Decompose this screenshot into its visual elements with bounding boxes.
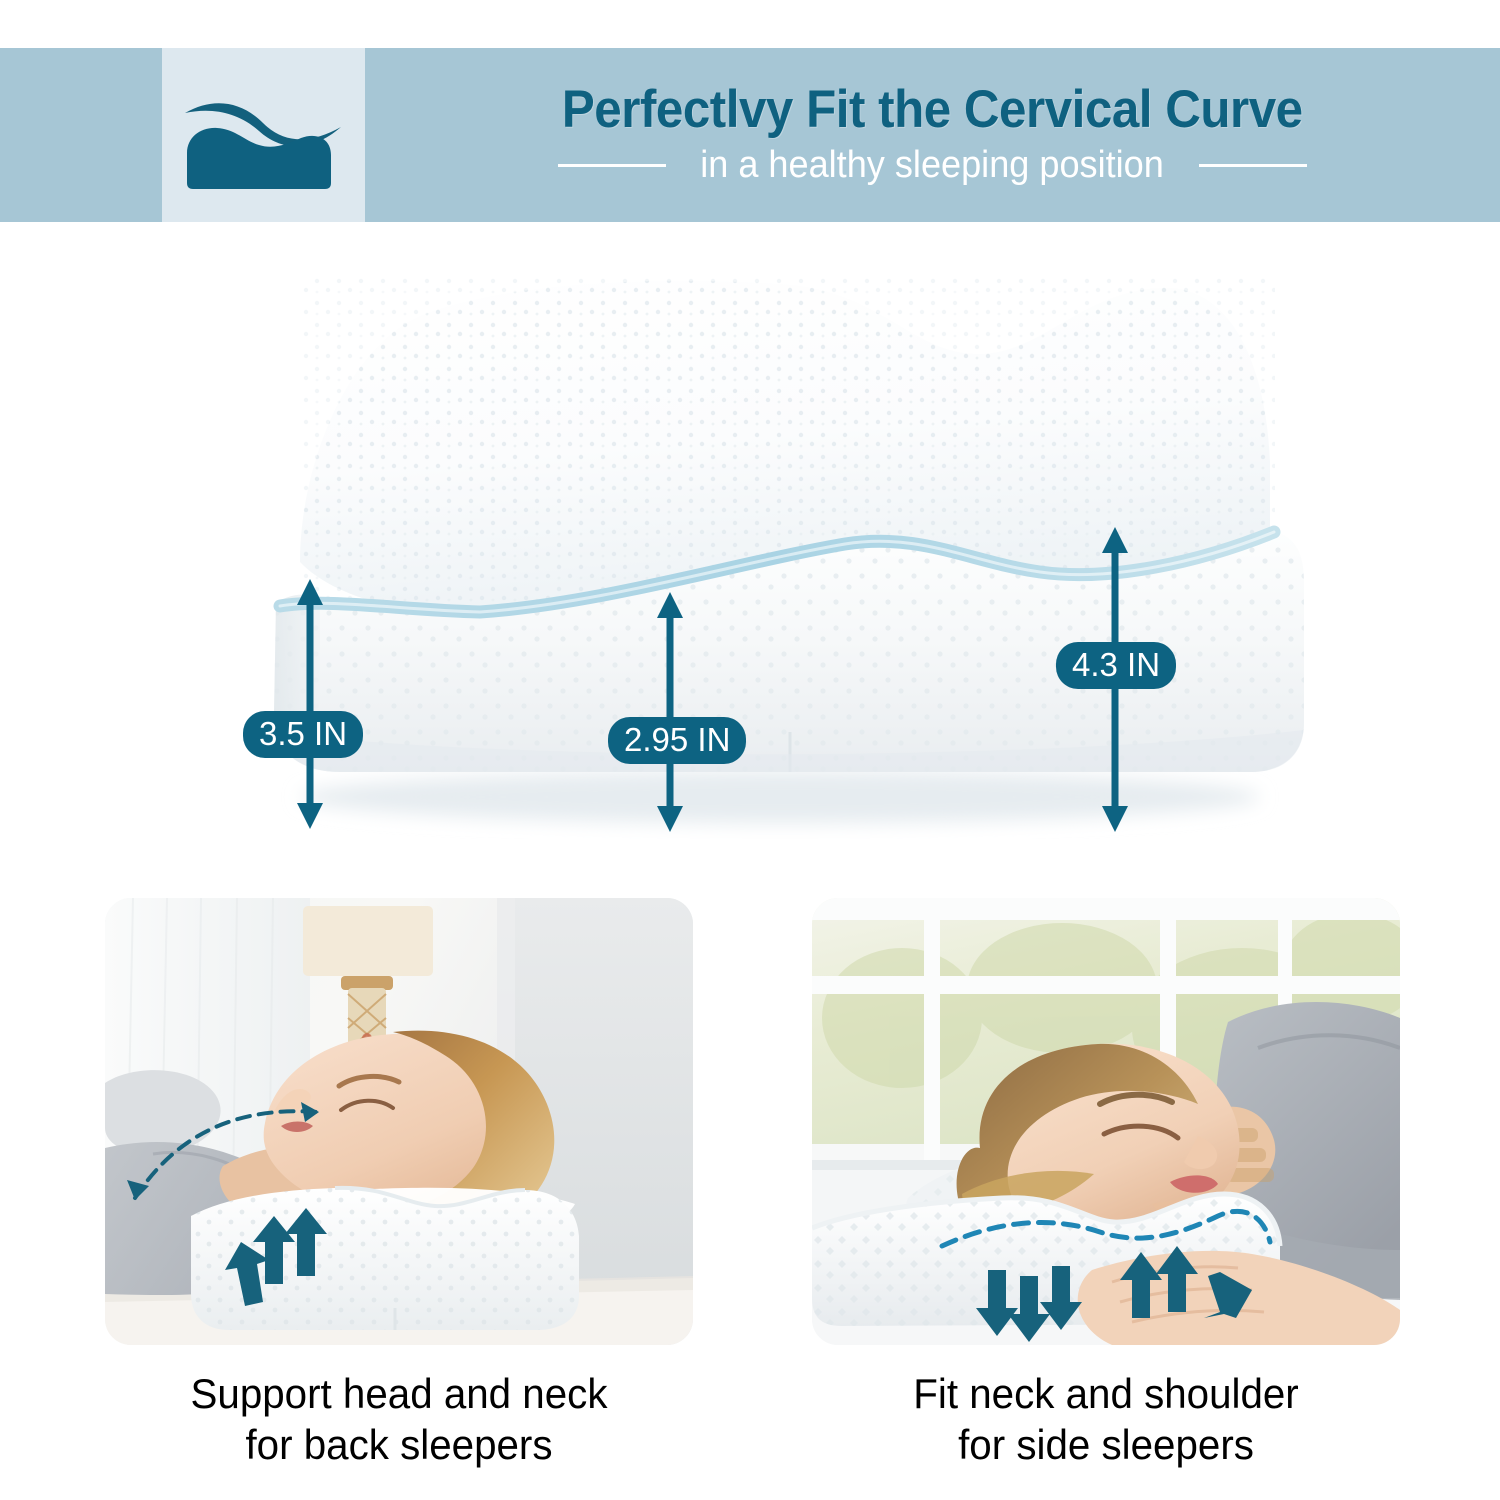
dimension-left: 3.5 IN [285,579,405,829]
header-banner: Perfectlvy Fit the Cervical Curve in a h… [0,48,1500,222]
page-title: Perfectlvy Fit the Cervical Curve [562,83,1303,137]
header-text-block: Perfectlvy Fit the Cervical Curve in a h… [365,48,1500,222]
caption-line-2: for side sleepers [824,1419,1388,1470]
page-subtitle: in a healthy sleeping position [701,144,1165,187]
caption-side-sleeper: Fit neck and shoulder for side sleepers [824,1368,1388,1470]
scene-panel-side-sleeper [812,898,1400,1345]
dimension-badge-left: 3.5 IN [243,711,363,758]
caption-line-1: Support head and neck [117,1368,681,1419]
dimension-center: 2.95 IN [645,592,765,832]
back-sleeper-photo [105,898,693,1345]
dimension-badge-center: 2.95 IN [608,717,746,764]
subtitle-row: in a healthy sleeping position [365,144,1500,187]
dimension-arrow-icon [645,592,765,832]
caption-line-2: for back sleepers [117,1419,681,1470]
dimension-arrow-icon [285,579,405,829]
logo-panel [162,48,365,222]
subtitle-rule-left [558,164,666,167]
subtitle-rule-right [1199,164,1307,167]
dimension-right: 4.3 IN [1090,527,1210,832]
caption-back-sleeper: Support head and neck for back sleepers [117,1368,681,1470]
contour-pillow-icon [179,75,349,195]
scene-panel-back-sleeper [105,898,693,1345]
dimension-badge-right: 4.3 IN [1056,642,1176,689]
side-sleeper-photo [812,898,1400,1345]
caption-line-1: Fit neck and shoulder [824,1368,1388,1419]
product-section: 3.5 IN 2.95 IN 4.3 IN [0,222,1500,882]
